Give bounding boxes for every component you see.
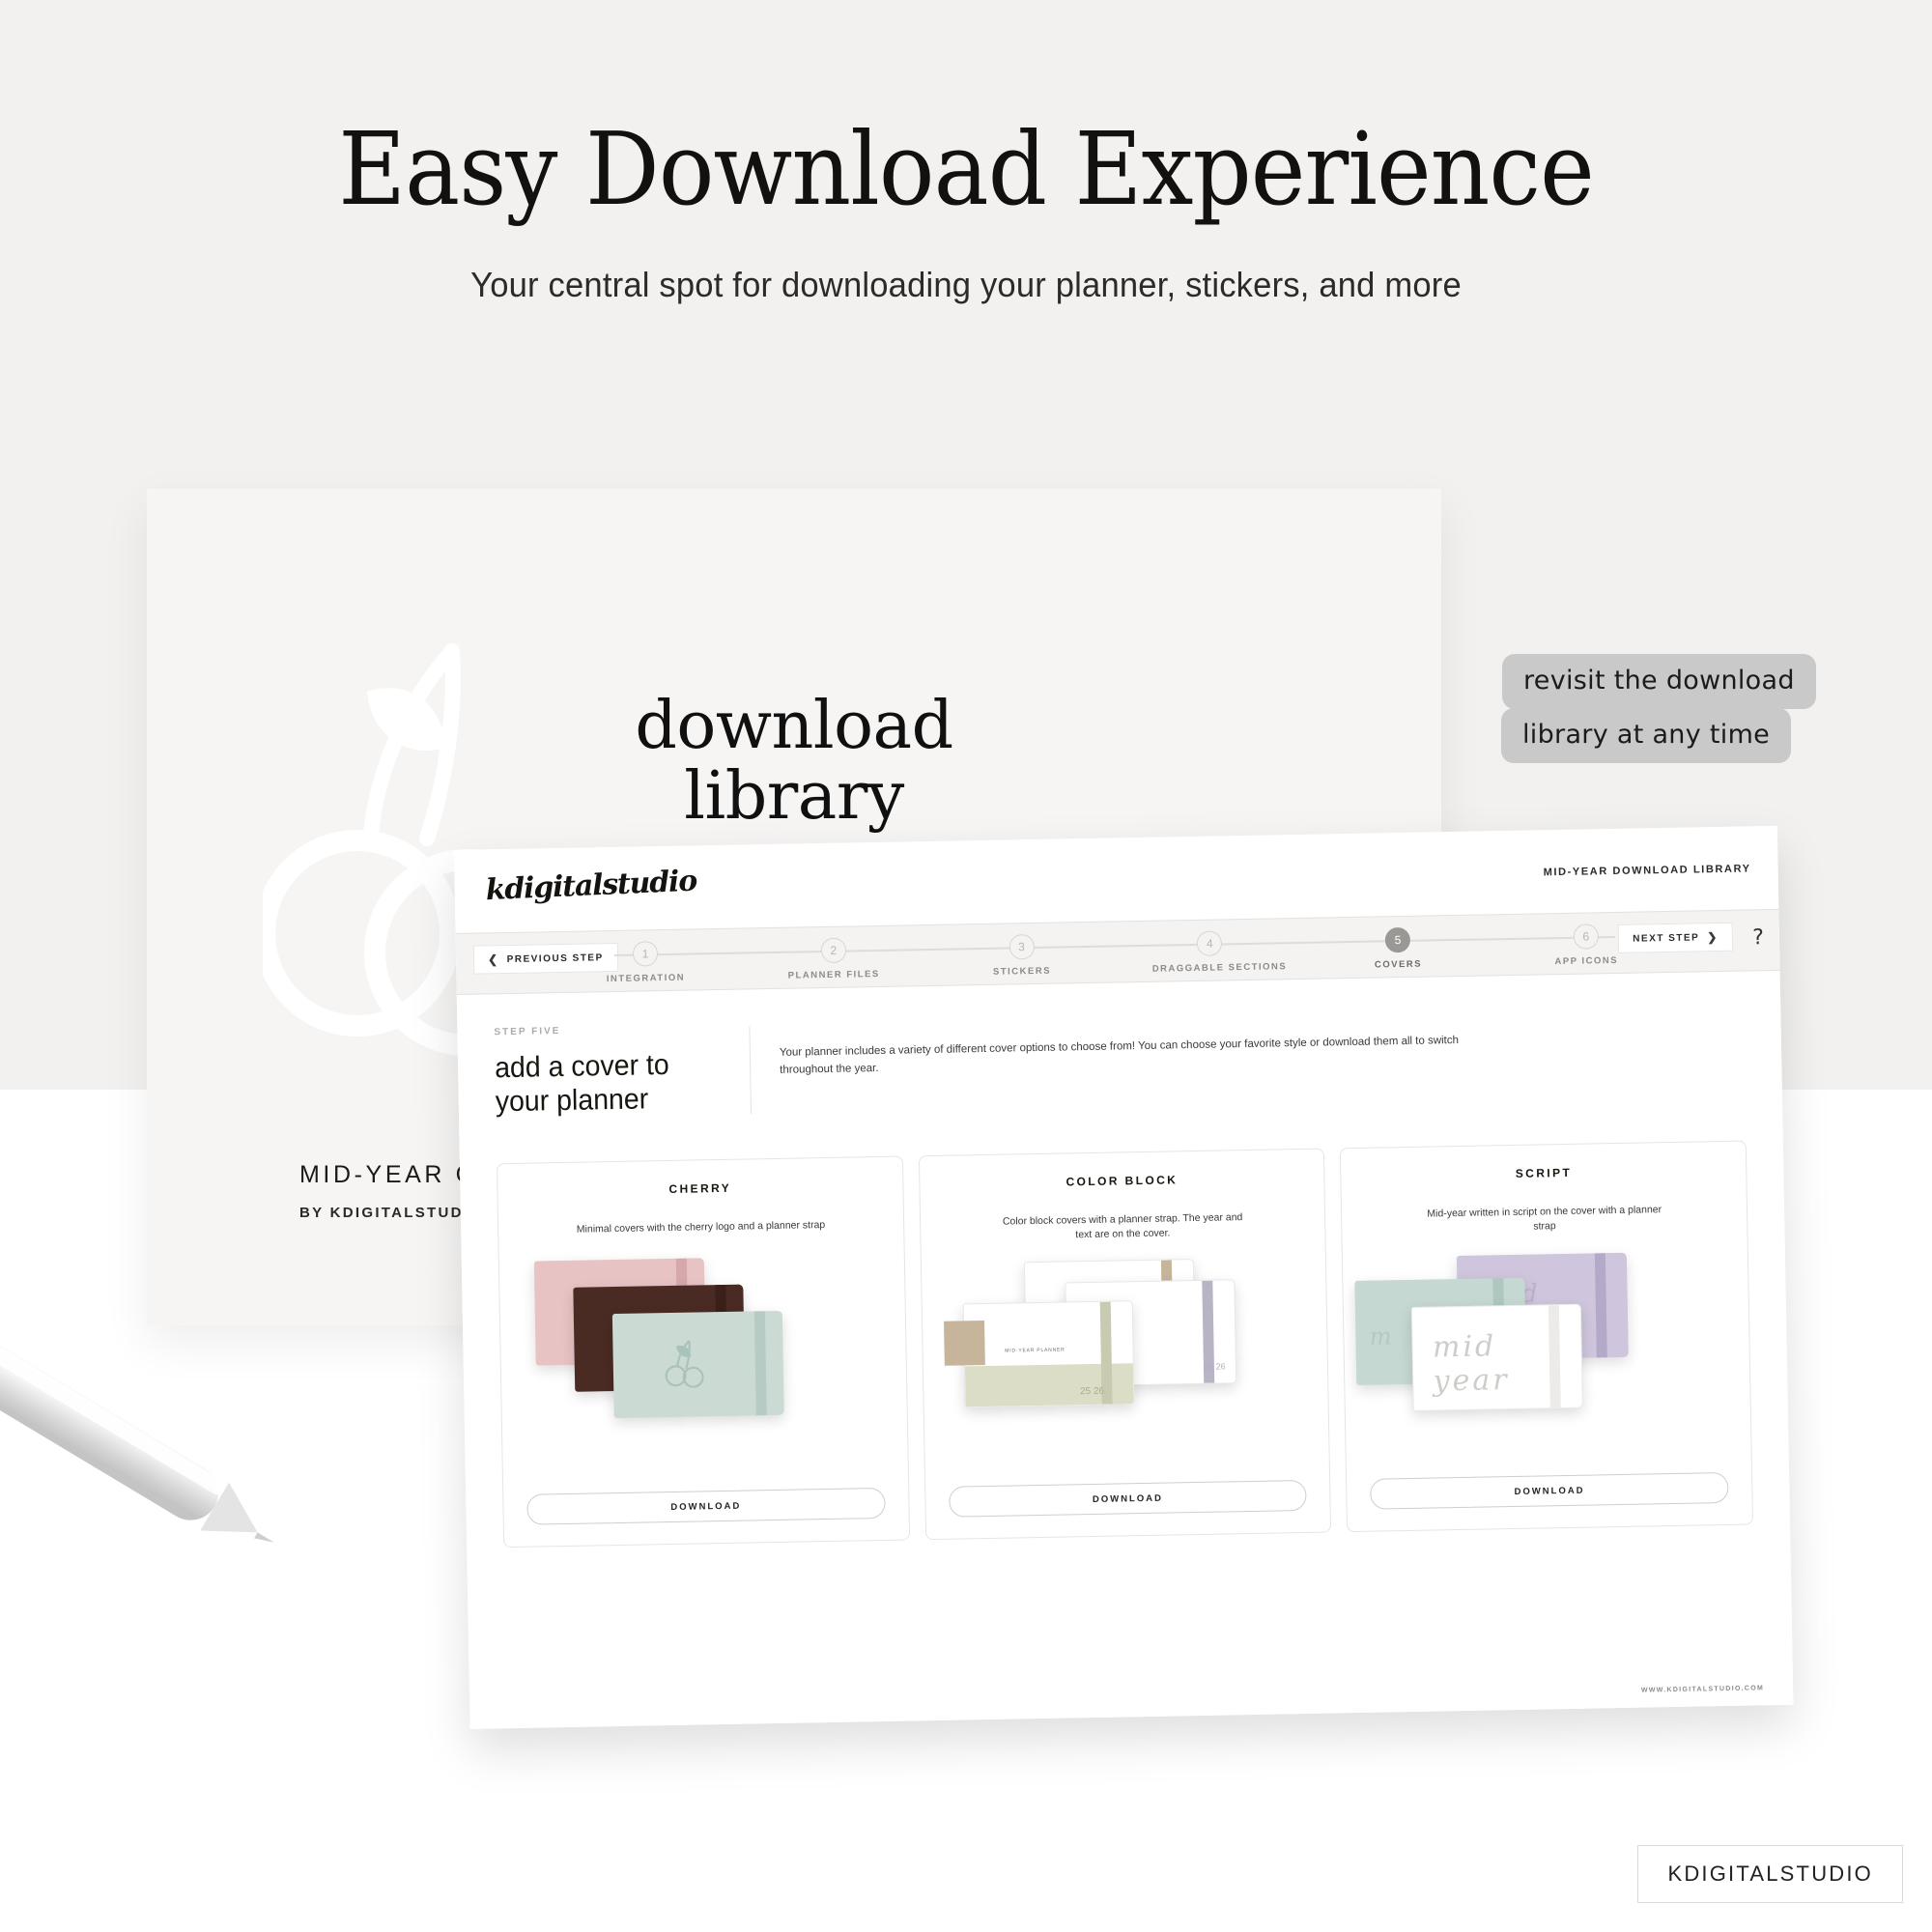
step-item-2[interactable]: 2 PLANNER FILES xyxy=(775,926,892,981)
app-viewport: kdigitalstudio MID-YEAR DOWNLOAD LIBRARY… xyxy=(454,826,1793,1729)
poster-canvas: Easy Download Experience Your central sp… xyxy=(0,0,1932,1932)
step-label-1: INTEGRATION xyxy=(587,972,703,984)
year-label-olive: 25 26 xyxy=(1080,1387,1104,1397)
step-item-1[interactable]: 1 INTEGRATION xyxy=(587,929,704,984)
step-dot-2: 2 xyxy=(821,938,846,963)
cover-card-desc-script: Mid-year written in script on the cover … xyxy=(1418,1203,1672,1236)
cover-card-desc-cherry: Minimal covers with the cherry logo and … xyxy=(574,1218,827,1237)
cover-preview-script: d m mid year xyxy=(1343,1244,1750,1435)
step-dot-4: 4 xyxy=(1197,930,1222,955)
step-item-3[interactable]: 3 STICKERS xyxy=(963,923,1080,978)
section-title-line1: add a cover to xyxy=(495,1049,669,1084)
cover-card-color-block[interactable]: COLOR BLOCK Color block covers with a pl… xyxy=(919,1149,1332,1541)
step-label-4: DRAGGABLE SECTIONS xyxy=(1152,962,1268,975)
next-step-button[interactable]: NEXT STEP ❯ xyxy=(1618,923,1733,953)
cherry-logo-icon-sage xyxy=(663,1336,716,1389)
page-subtitle: Your central spot for downloading your p… xyxy=(39,265,1893,305)
section-title-line2: your planner xyxy=(495,1083,648,1118)
header-library-label: MID-YEAR DOWNLOAD LIBRARY xyxy=(1544,863,1751,878)
year-label-lilac: 25 26 xyxy=(1204,1363,1226,1372)
step-item-5[interactable]: 5 COVERS xyxy=(1340,916,1457,971)
annotation-pill-line2: library at any time xyxy=(1501,708,1791,763)
step-label-6: APP ICONS xyxy=(1528,954,1644,967)
color-swatch-tan xyxy=(944,1321,985,1366)
help-icon[interactable]: ? xyxy=(1752,925,1764,950)
app-content: STEP FIVE add a cover to your planner Yo… xyxy=(457,971,1790,1548)
cover-preview-cherry xyxy=(499,1245,907,1436)
app-footer-url: WWW.KDIGITALSTUDIO.COM xyxy=(1641,1685,1764,1693)
script-text-white: mid year xyxy=(1433,1327,1582,1398)
section-description: Your planner includes a variety of diffe… xyxy=(779,1009,1475,1080)
book-mock-olive: MID-YEAR PLANNER 25 26 xyxy=(962,1300,1134,1407)
cover-card-cherry[interactable]: CHERRY Minimal covers with the cherry lo… xyxy=(497,1156,910,1548)
dl-title-line2: library xyxy=(147,762,1441,833)
next-step-label: NEXT STEP xyxy=(1633,932,1699,944)
brand-logo[interactable]: kdigitalstudio xyxy=(485,865,697,908)
download-button-color-block[interactable]: DOWNLOAD xyxy=(949,1480,1307,1518)
book-mock-white-script: mid year xyxy=(1411,1303,1583,1410)
step-dot-5: 5 xyxy=(1385,927,1410,952)
step-dot-1: 1 xyxy=(633,941,658,966)
step-item-4[interactable]: 4 DRAGGABLE SECTIONS xyxy=(1151,920,1268,975)
annotation-pill-line1: revisit the download xyxy=(1502,654,1816,709)
section-divider xyxy=(749,1026,752,1114)
section-eyebrow: STEP FIVE xyxy=(494,1023,735,1038)
chevron-left-icon: ❮ xyxy=(488,953,499,965)
step-label-5: COVERS xyxy=(1340,958,1456,971)
dl-title-line1: download xyxy=(635,688,952,764)
hero-section: Easy Download Experience Your central sp… xyxy=(0,0,1932,305)
script-text-mint: m xyxy=(1369,1322,1391,1350)
section-heading-group: STEP FIVE add a cover to your planner xyxy=(494,1023,737,1120)
cover-card-title-cherry: CHERRY xyxy=(497,1179,902,1200)
step-dot-6: 6 xyxy=(1574,923,1599,949)
download-library-app-window: kdigitalstudio MID-YEAR DOWNLOAD LIBRARY… xyxy=(454,826,1793,1729)
cover-card-script[interactable]: SCRIPT Mid-year written in script on the… xyxy=(1340,1141,1753,1533)
section-title: add a cover to your planner xyxy=(495,1047,725,1120)
cover-card-desc-color-block: Color block covers with a planner strap.… xyxy=(996,1210,1250,1244)
strap-lavender xyxy=(1595,1253,1607,1357)
download-library-title: download library xyxy=(147,692,1441,833)
cover-options-grid: CHERRY Minimal covers with the cherry lo… xyxy=(497,1141,1753,1548)
download-button-script[interactable]: DOWNLOAD xyxy=(1370,1472,1728,1510)
book-mock-sage xyxy=(612,1311,784,1418)
chevron-right-icon: ❯ xyxy=(1707,931,1719,943)
cover-card-title-color-block: COLOR BLOCK xyxy=(920,1171,1324,1192)
step-dot-3: 3 xyxy=(1009,934,1034,959)
page-title: Easy Download Experience xyxy=(77,114,1855,224)
strap-sage xyxy=(754,1312,767,1416)
cover-card-title-script: SCRIPT xyxy=(1342,1163,1747,1184)
cover-caption-olive: MID-YEAR PLANNER xyxy=(1005,1347,1065,1353)
cover-preview-color-block: MID-YEAR PLANNER 25 26 MID-YEAR PLANNER … xyxy=(922,1252,1329,1443)
section-header: STEP FIVE add a cover to your planner Yo… xyxy=(494,1005,1746,1120)
footer-brand-badge: KDIGITALSTUDIO xyxy=(1637,1845,1903,1903)
step-label-2: PLANNER FILES xyxy=(776,969,892,981)
download-button-cherry[interactable]: DOWNLOAD xyxy=(526,1488,885,1525)
step-label-3: STICKERS xyxy=(964,965,1080,978)
